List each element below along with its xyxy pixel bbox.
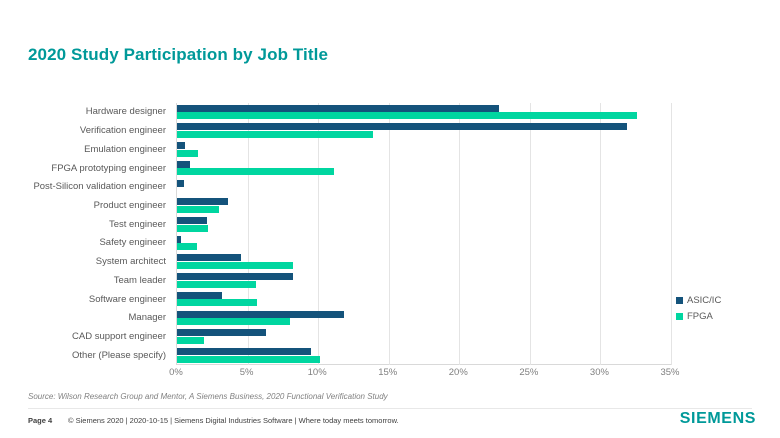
bar-asic bbox=[177, 292, 222, 299]
bar-asic bbox=[177, 123, 627, 130]
gridline bbox=[671, 103, 672, 365]
category-label: Product engineer bbox=[94, 197, 166, 215]
bar-group bbox=[177, 215, 671, 234]
copyright-text: © Siemens 2020 | 2020-10-15 | Siemens Di… bbox=[68, 416, 399, 425]
legend-item[interactable]: FPGA bbox=[676, 309, 752, 323]
bar-group bbox=[177, 122, 671, 141]
bar-fpga bbox=[177, 281, 256, 288]
bar-asic bbox=[177, 105, 499, 112]
x-axis-tick-label: 15% bbox=[378, 367, 397, 378]
legend-label: FPGA bbox=[687, 311, 713, 322]
bar-fpga bbox=[177, 262, 293, 269]
footer-divider bbox=[28, 408, 752, 409]
category-label: Safety engineer bbox=[99, 234, 166, 252]
bar-group bbox=[177, 197, 671, 216]
bar-asic bbox=[177, 329, 266, 336]
bar-asic bbox=[177, 254, 241, 261]
bar-asic bbox=[177, 142, 185, 149]
bar-group bbox=[177, 103, 671, 122]
siemens-logo: SIEMENS bbox=[680, 410, 756, 428]
bar-group bbox=[177, 309, 671, 328]
bar-group bbox=[177, 159, 671, 178]
category-label: System architect bbox=[96, 253, 166, 271]
bar-fpga bbox=[177, 225, 208, 232]
bar-group bbox=[177, 178, 671, 197]
source-note: Source: Wilson Research Group and Mentor… bbox=[28, 392, 388, 401]
chart-legend: ASIC/ICFPGA bbox=[676, 293, 752, 325]
category-label: Software engineer bbox=[89, 291, 166, 309]
legend-swatch-icon bbox=[676, 313, 683, 320]
page-number: Page 4 bbox=[28, 416, 52, 425]
category-label: Hardware designer bbox=[86, 103, 166, 121]
category-label: Post-Silicon validation engineer bbox=[33, 178, 166, 196]
bar-group bbox=[177, 234, 671, 253]
bar-fpga bbox=[177, 243, 197, 250]
plot-area bbox=[176, 103, 671, 365]
value-axis-ticks: 0%5%10%15%20%25%30%35% bbox=[176, 367, 670, 383]
bar-asic bbox=[177, 236, 181, 243]
bar-asic bbox=[177, 198, 228, 205]
bar-fpga bbox=[177, 356, 320, 363]
x-axis-tick-label: 5% bbox=[240, 367, 254, 378]
category-label: Manager bbox=[129, 309, 167, 327]
category-label: Verification engineer bbox=[80, 122, 166, 140]
bar-fpga bbox=[177, 299, 257, 306]
bar-group bbox=[177, 290, 671, 309]
category-label: Emulation engineer bbox=[84, 141, 166, 159]
bar-group bbox=[177, 271, 671, 290]
x-axis-tick-label: 20% bbox=[449, 367, 468, 378]
category-label: Other (Please specify) bbox=[72, 347, 166, 365]
bar-fpga bbox=[177, 131, 373, 138]
bar-fpga bbox=[177, 168, 334, 175]
bar-asic bbox=[177, 273, 293, 280]
plot-area-wrapper: Hardware designerVerification engineerEm… bbox=[28, 103, 752, 365]
bar-asic bbox=[177, 348, 311, 355]
bar-group bbox=[177, 328, 671, 347]
category-label: Team leader bbox=[114, 272, 166, 290]
bar-group bbox=[177, 346, 671, 365]
bar-asic bbox=[177, 161, 190, 168]
bar-fpga bbox=[177, 150, 198, 157]
bar-fpga bbox=[177, 206, 219, 213]
category-label: CAD support engineer bbox=[72, 328, 166, 346]
page-title: 2020 Study Participation by Job Title bbox=[28, 45, 328, 65]
legend-label: ASIC/IC bbox=[687, 295, 721, 306]
bar-asic bbox=[177, 217, 207, 224]
x-axis-tick-label: 30% bbox=[590, 367, 609, 378]
category-label: FPGA prototyping engineer bbox=[51, 160, 166, 178]
x-axis-tick-label: 10% bbox=[308, 367, 327, 378]
category-label: Test engineer bbox=[109, 216, 166, 234]
category-axis-labels: Hardware designerVerification engineerEm… bbox=[28, 103, 172, 365]
legend-swatch-icon bbox=[676, 297, 683, 304]
bar-fpga bbox=[177, 318, 290, 325]
bar-fpga bbox=[177, 112, 637, 119]
bar-chart: Hardware designerVerification engineerEm… bbox=[28, 103, 752, 388]
bar-group bbox=[177, 140, 671, 159]
slide-footer: Page 4 © Siemens 2020 | 2020-10-15 | Sie… bbox=[0, 408, 780, 438]
x-axis-tick-label: 0% bbox=[169, 367, 183, 378]
bar-asic bbox=[177, 180, 184, 187]
bar-fpga bbox=[177, 337, 204, 344]
legend-item[interactable]: ASIC/IC bbox=[676, 293, 752, 307]
x-axis-tick-label: 35% bbox=[660, 367, 679, 378]
bar-asic bbox=[177, 311, 344, 318]
x-axis-tick-label: 25% bbox=[519, 367, 538, 378]
bar-group bbox=[177, 253, 671, 272]
slide-canvas: 2020 Study Participation by Job Title Ha… bbox=[0, 0, 780, 438]
